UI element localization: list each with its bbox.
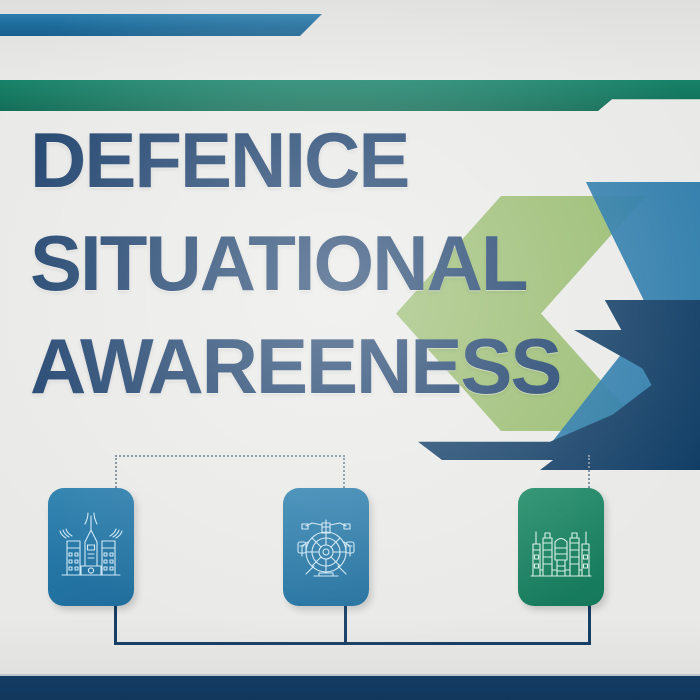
bottom-navy-band xyxy=(0,676,700,700)
page-title: DEFENICE SITUATIONAL AWAREENESS xyxy=(30,122,670,406)
industrial-refinery-icon xyxy=(527,512,595,582)
headline-line-3: AWAREENESS xyxy=(30,328,670,405)
dotted-connector-horizontal xyxy=(115,455,345,457)
city-radar-tower-icon xyxy=(57,512,125,582)
icon-row: City skyline with radar tower and signal… xyxy=(0,488,700,608)
headline-line-1: DEFENICE xyxy=(30,122,670,199)
bottom-band-hairline xyxy=(0,674,700,676)
solid-connector-vertical-right xyxy=(588,605,591,645)
solid-connector-horizontal xyxy=(114,642,591,645)
top-blue-accent-bar xyxy=(0,14,322,36)
icon-card-3[interactable]: Industrial refinery plant towers xyxy=(518,488,604,606)
poster-canvas: DEFENICE SITUATIONAL AWAREENESS City sky… xyxy=(0,0,700,700)
dotted-connector-vertical-right xyxy=(588,455,590,488)
icon-card-1[interactable]: City skyline with radar tower and signal… xyxy=(48,488,134,606)
radar-turbine-mechanism-icon xyxy=(292,512,360,582)
solid-connector-vertical-middle xyxy=(344,605,347,645)
top-green-accent-bar xyxy=(0,80,700,111)
solid-connector-vertical-left xyxy=(114,605,117,645)
icon-card-2[interactable]: Circular radar turbine mechanism with mo… xyxy=(283,488,369,606)
headline-line-2: SITUATIONAL xyxy=(30,225,670,302)
dotted-connector-vertical-left xyxy=(115,455,117,488)
dotted-connector-vertical-middle xyxy=(343,455,345,488)
